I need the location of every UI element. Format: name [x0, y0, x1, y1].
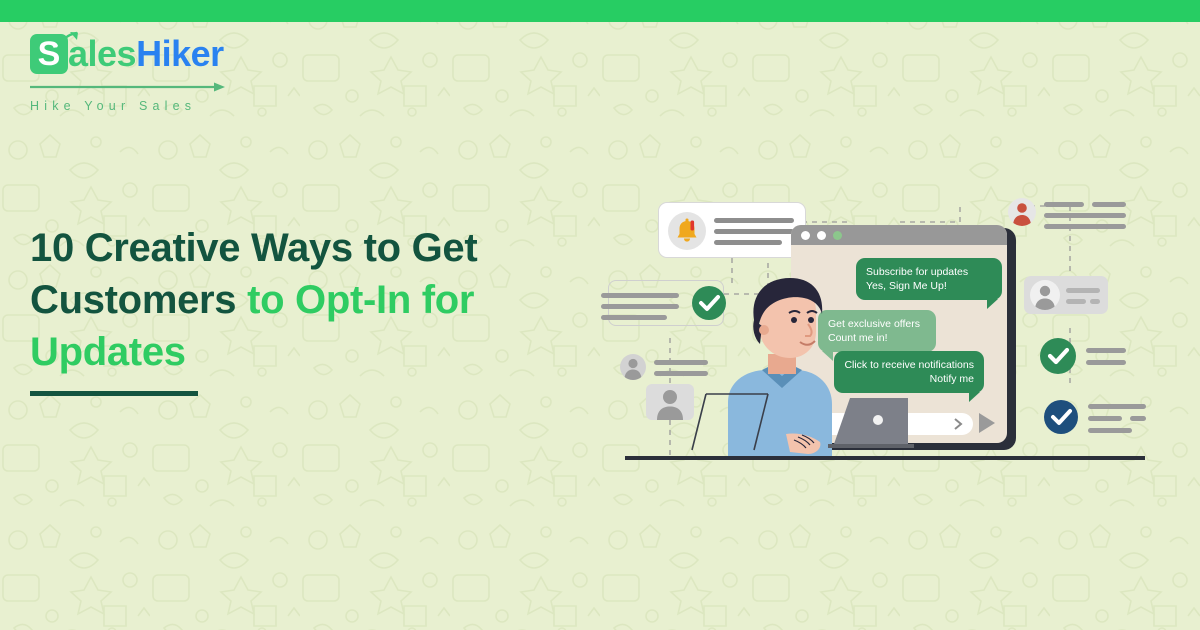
window-dot-2 [817, 231, 826, 240]
headline-line-1: 10 Creative Ways to Get [30, 226, 477, 270]
logo-tagline: Hike Your Sales [30, 99, 240, 113]
check-circle-icon [1044, 400, 1078, 434]
top-accent-bar [0, 0, 1200, 22]
laptop-icon [828, 388, 914, 450]
send-button[interactable] [979, 413, 995, 433]
notification-card [658, 202, 806, 258]
saleshiker-logo[interactable]: S ales Hiker Hike Your Sales [30, 34, 240, 113]
user-avatar-icon [646, 384, 694, 420]
user-avatar-icon [1008, 198, 1036, 226]
check-circle-icon [692, 286, 726, 320]
hero-illustration: Subscribe for updates Yes, Sign Me Up! G… [600, 188, 1180, 488]
arrow-up-right-icon [55, 31, 81, 53]
chevron-right-icon [951, 417, 965, 431]
right-avatar-card [1024, 276, 1108, 314]
blog-banner: S ales Hiker Hike Your Sales 10 Creative… [0, 0, 1200, 630]
check-circle-icon [1040, 338, 1076, 374]
title-underline [30, 391, 198, 396]
browser-title-bar [791, 225, 1007, 245]
window-dot-3 [833, 231, 842, 240]
headline-line-2-dark: Customers [30, 278, 247, 322]
chat-bubble-1-line-1: Subscribe for updates [866, 265, 992, 279]
headline-line-3-accent: Updates [30, 330, 186, 374]
page-title: 10 Creative Ways to Get Customers to Opt… [30, 222, 570, 378]
logo-text-hiker: Hiker [136, 34, 224, 74]
user-avatar-icon [620, 354, 646, 380]
chat-bubble-1: Subscribe for updates Yes, Sign Me Up! [856, 258, 1002, 300]
logo-wordmark: S ales Hiker [30, 34, 240, 78]
left-avatar-card [646, 384, 694, 420]
headline-line-2-accent: to Opt-In for [247, 278, 474, 322]
arrow-right-icon [30, 82, 226, 92]
chat-bubble-1-line-2: Yes, Sign Me Up! [866, 279, 992, 293]
bell-icon [668, 212, 706, 250]
desk-line [625, 456, 1145, 460]
laptop-lid-outline [684, 384, 804, 454]
user-avatar-icon [1030, 280, 1060, 310]
window-dot-1 [801, 231, 810, 240]
bell-icon-background [668, 212, 706, 250]
